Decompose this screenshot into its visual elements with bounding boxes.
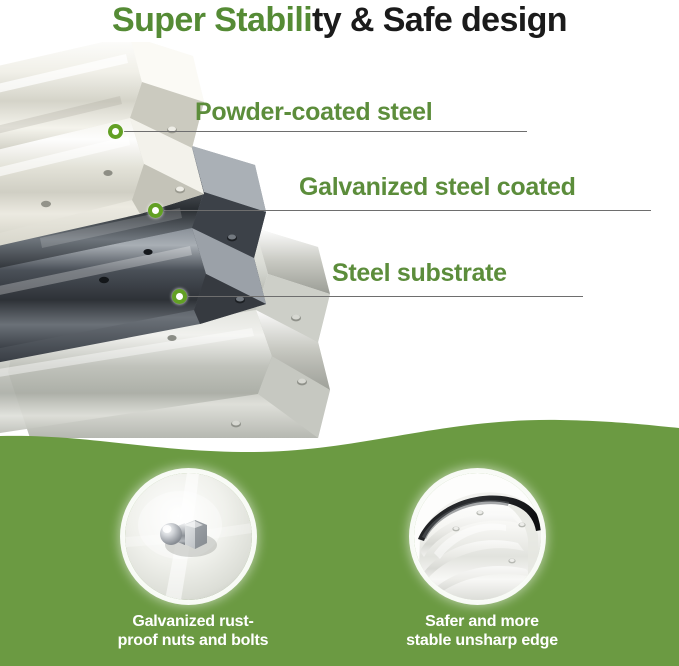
callout-label-powder-coated-steel: Powder-coated steel (195, 97, 432, 127)
page-title-green-part: Super Stabili (112, 1, 312, 39)
callout-label-galvanized-steel-coated: Galvanized steel coated (299, 172, 576, 202)
callout-label-steel-substrate: Steel substrate (332, 258, 507, 288)
feature-caption-unsharp-edge: Safer and more stable unsharp edge (352, 612, 612, 650)
infographic-page: Super Stability & Safe design (0, 0, 679, 666)
callout-connector-line (188, 296, 583, 297)
caption-line-2: stable unsharp edge (352, 631, 612, 650)
page-title-dark-part: ty & Safe design (312, 1, 567, 39)
rubber-rim-edge-photo-icon (414, 473, 541, 600)
caption-line-1: Safer and more (352, 612, 612, 631)
callout-marker-dot-icon (108, 124, 123, 139)
page-title: Super Stability & Safe design (0, 0, 679, 42)
hex-bolt-photo-icon (125, 473, 252, 600)
callout-connector-line (164, 210, 651, 211)
caption-line-2: proof nuts and bolts (63, 631, 323, 650)
feature-caption-galvanized-nuts-bolts: Galvanized rust- proof nuts and bolts (63, 612, 323, 650)
caption-line-1: Galvanized rust- (63, 612, 323, 631)
callout-marker-dot-icon (148, 203, 163, 218)
callout-connector-line (124, 131, 527, 132)
callout-marker-dot-icon (172, 289, 187, 304)
